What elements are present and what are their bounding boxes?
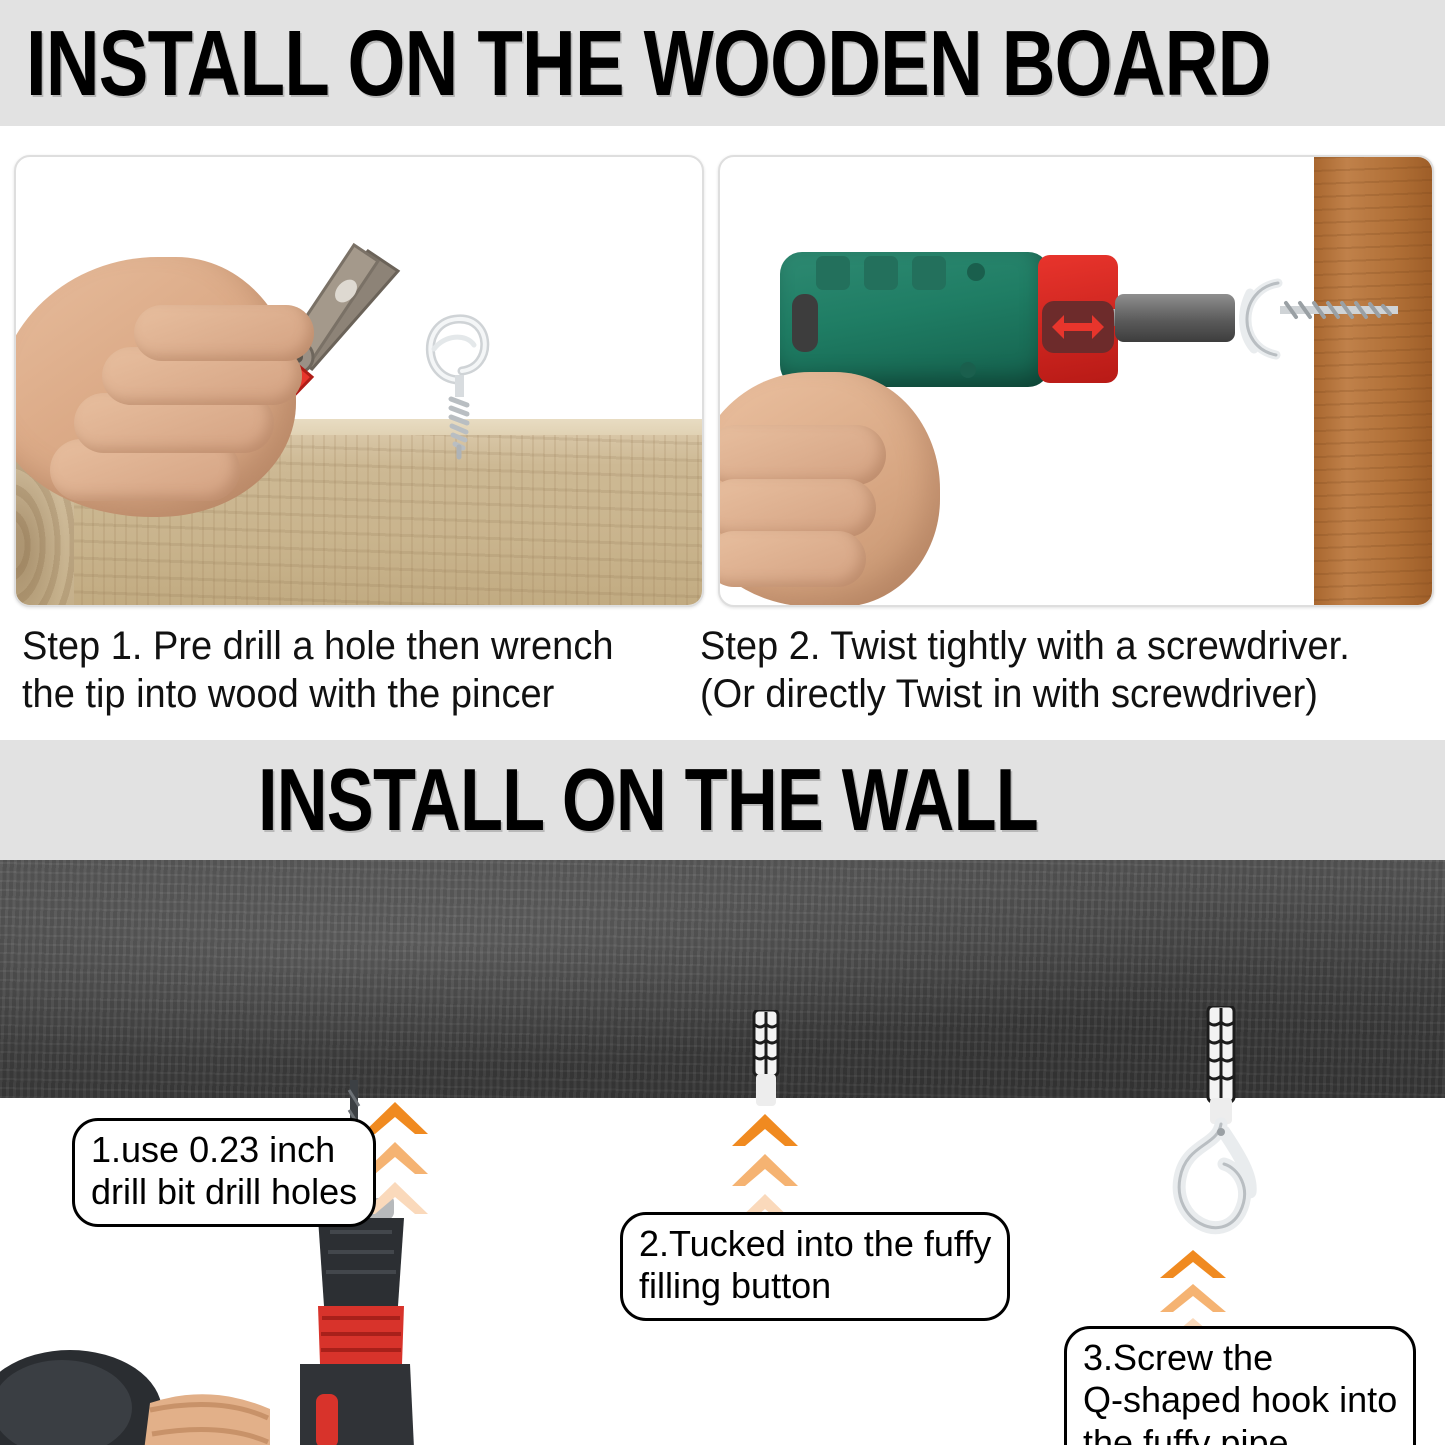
- section-title-wooden-board: INSTALL ON THE WOODEN BOARD: [26, 10, 1271, 117]
- q-hook-screw-icon: [414, 275, 504, 460]
- section-header-wooden-board: INSTALL ON THE WOODEN BOARD: [0, 0, 1445, 126]
- section-title-wall: INSTALL ON THE WALL: [258, 749, 1038, 851]
- finger: [718, 425, 886, 485]
- finger: [134, 305, 314, 361]
- finger: [718, 479, 876, 537]
- wooden-post: [1314, 157, 1432, 605]
- q-hook-in-wall-icon: [1166, 1006, 1286, 1256]
- callout-step-3: 3.Screw the Q-shaped hook into the fuffy…: [1064, 1326, 1416, 1445]
- screwdriver-detail: [780, 252, 1050, 387]
- callout-step-2: 2.Tucked into the fuffy filling button: [620, 1212, 1010, 1321]
- screwdriver-chuck: [1115, 294, 1235, 342]
- finger: [718, 531, 866, 587]
- step-2-photo: [718, 155, 1434, 607]
- wall-plug-icon: [748, 1010, 784, 1108]
- step-2-caption: Step 2. Twist tightly with a screwdriver…: [700, 622, 1403, 718]
- callout-step-1: 1.use 0.23 inch drill bit drill holes: [72, 1118, 376, 1227]
- step-1-caption: Step 1. Pre drill a hole then wrench the…: [22, 622, 678, 718]
- direction-switch-icon: [1040, 297, 1116, 357]
- section-header-wall: INSTALL ON THE WALL: [0, 740, 1445, 860]
- product-instruction-image: INSTALL ON THE WOODEN BOARD: [0, 0, 1445, 1445]
- step-1-photo: [14, 155, 704, 607]
- cordless-drill-icon: [0, 1198, 430, 1445]
